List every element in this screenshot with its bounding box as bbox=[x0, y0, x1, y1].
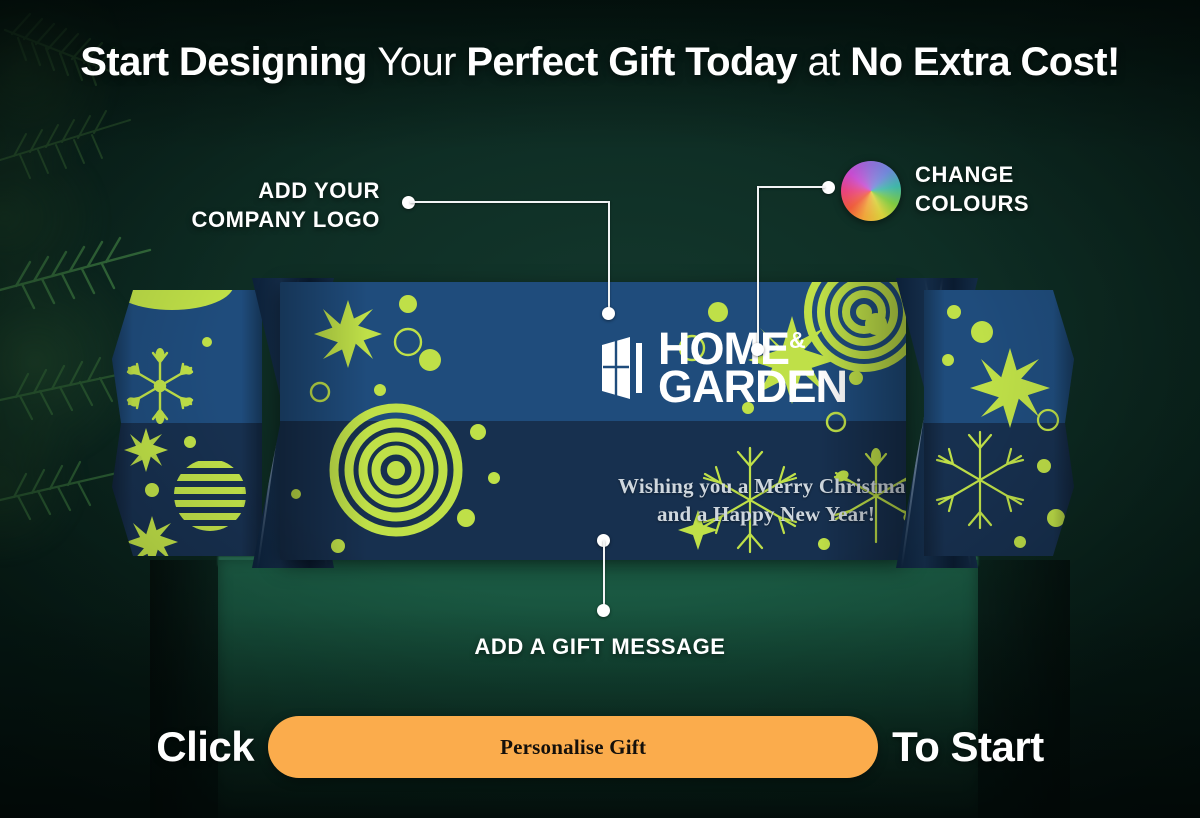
colour-wheel-icon[interactable] bbox=[841, 161, 901, 221]
cracker-end-right bbox=[924, 290, 1074, 556]
callout-company-logo-label: ADD YOUR COMPANY LOGO bbox=[160, 176, 380, 234]
panel-upper bbox=[112, 290, 262, 423]
panel-lower bbox=[112, 423, 262, 556]
callout-message-line-vertical bbox=[603, 540, 605, 610]
callout-change-colours-label: CHANGE COLOURS bbox=[915, 160, 1115, 218]
headline-segment-1: Start Designing bbox=[80, 40, 377, 84]
headline-segment-3: Perfect Gift Today bbox=[466, 40, 807, 84]
callout-message-dot-end bbox=[597, 604, 610, 617]
callout-logo-line-horizontal bbox=[410, 201, 610, 203]
callout-colours-dot-end bbox=[751, 343, 764, 356]
cracker-end-left bbox=[112, 290, 262, 556]
cta-suffix-text: To Start bbox=[892, 723, 1044, 771]
panel-lower bbox=[924, 423, 1074, 556]
callout-logo-dot-end bbox=[602, 307, 615, 320]
company-logo[interactable]: HOME& GARDEN bbox=[600, 322, 906, 414]
page-title: Start Designing Your Perfect Gift Today … bbox=[0, 40, 1200, 85]
callout-colours-line-horizontal bbox=[757, 186, 825, 188]
cta-row: Click Personalise Gift To Start bbox=[0, 714, 1200, 780]
callout-logo-line-1: ADD YOUR bbox=[160, 176, 380, 205]
callout-logo-line-2: COMPANY LOGO bbox=[160, 205, 380, 234]
logo-wordmark: HOME& GARDEN bbox=[658, 330, 847, 406]
logo-ampersand: & bbox=[789, 327, 806, 353]
promo-banner: HOME& GARDEN Wishing you a Merry Christm… bbox=[0, 0, 1200, 818]
headline-segment-2: Your bbox=[377, 40, 466, 84]
cta-prefix-text: Click bbox=[156, 723, 254, 771]
panel-upper bbox=[924, 290, 1074, 423]
headline-segment-5: No Extra Cost! bbox=[850, 40, 1119, 84]
personalise-gift-button[interactable]: Personalise Gift bbox=[268, 716, 878, 778]
headline-segment-4: at bbox=[808, 40, 851, 84]
gift-message-line-2: and a Happy New Year! bbox=[516, 500, 906, 528]
gift-message-text[interactable]: Wishing you a Merry Christmas and a Happ… bbox=[516, 472, 906, 529]
cracker-body-panel[interactable]: HOME& GARDEN Wishing you a Merry Christm… bbox=[280, 282, 906, 560]
christmas-cracker-product: HOME& GARDEN Wishing you a Merry Christm… bbox=[112, 276, 1074, 566]
callout-logo-line-vertical bbox=[608, 201, 610, 313]
callout-colours-line-vertical bbox=[757, 186, 759, 349]
callout-colours-line-2: COLOURS bbox=[915, 189, 1115, 218]
gift-message-line-1: Wishing you a Merry Christmas bbox=[516, 472, 906, 500]
callout-colours-line-1: CHANGE bbox=[915, 160, 1115, 189]
callout-gift-message-label: ADD A GIFT MESSAGE bbox=[0, 632, 1200, 661]
logo-line-2: GARDEN bbox=[658, 368, 847, 406]
window-icon bbox=[600, 337, 646, 399]
